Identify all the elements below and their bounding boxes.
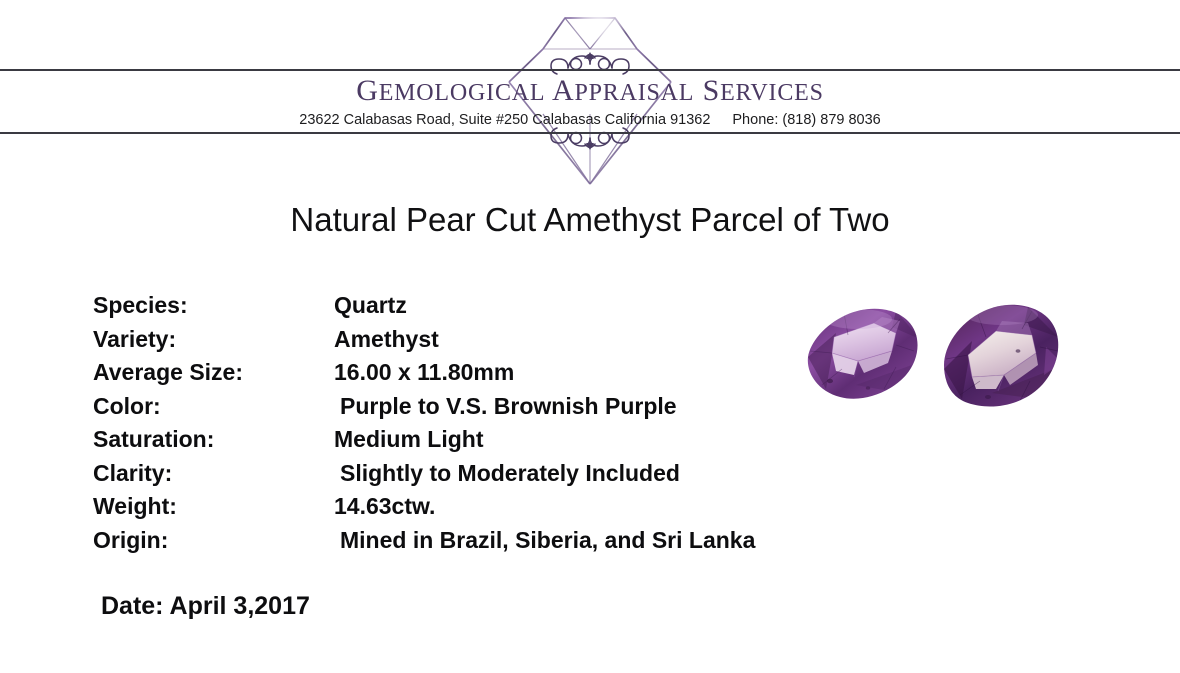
spec-value: Purple to V.S. Brownish Purple: [340, 390, 677, 424]
gemstone-photo: [796, 293, 1072, 423]
company-name-ppraisal: PPRAISAL: [574, 80, 694, 106]
address-and-phone: 23622 Calabasas Road, Suite #250 Calabas…: [0, 111, 1180, 129]
spec-value: Quartz: [334, 289, 407, 323]
spec-label: Variety:: [93, 323, 176, 357]
spec-row: Color:Purple to V.S. Brownish Purple: [93, 390, 813, 424]
spec-label: Color:: [93, 390, 161, 424]
company-name: GEMOLOGICAL APPRAISAL SERVICES: [0, 75, 1180, 109]
header-rule-top: [0, 69, 1180, 71]
spec-row: Variety:Amethyst: [93, 323, 813, 357]
company-name-g: G: [356, 74, 378, 107]
office-phone: Phone: (818) 879 8036: [732, 112, 880, 128]
spec-value: 16.00 x 11.80mm: [334, 356, 514, 390]
spec-row: Clarity:Slightly to Moderately Included: [93, 457, 813, 491]
spec-value: Slightly to Moderately Included: [340, 457, 680, 491]
amethyst-stone-right: [944, 305, 1062, 407]
amethyst-stone-left: [808, 309, 920, 399]
spec-label: Average Size:: [93, 356, 243, 390]
spec-value: 14.63ctw.: [334, 490, 435, 524]
header-rule-bottom: [0, 132, 1180, 134]
spec-value: Mined in Brazil, Siberia, and Sri Lanka: [340, 524, 755, 558]
spec-row: Species:Quartz: [93, 289, 813, 323]
certificate-page: GEMOLOGICAL APPRAISAL SERVICES 23622 Cal…: [0, 0, 1180, 673]
company-name-s: S: [703, 74, 721, 107]
spec-row: Saturation:Medium Light: [93, 423, 813, 457]
office-address: 23622 Calabasas Road, Suite #250 Calabas…: [299, 112, 710, 128]
spec-label: Saturation:: [93, 423, 214, 457]
spec-label: Origin:: [93, 524, 168, 558]
spec-label: Weight:: [93, 490, 177, 524]
specification-list: Species:QuartzVariety:AmethystAverage Si…: [93, 289, 813, 557]
company-name-a: A: [552, 74, 574, 107]
page-title: Natural Pear Cut Amethyst Parcel of Two: [0, 198, 1180, 242]
spec-row: Average Size:16.00 x 11.80mm: [93, 356, 813, 390]
appraisal-date: Date: April 3,2017: [101, 589, 310, 623]
company-name-ervices: ERVICES: [720, 80, 824, 106]
spec-row: Origin:Mined in Brazil, Siberia, and Sri…: [93, 524, 813, 558]
spec-value: Amethyst: [334, 323, 439, 357]
spec-value: Medium Light: [334, 423, 483, 457]
company-name-emological: EMOLOGICAL: [379, 80, 546, 106]
letterhead: GEMOLOGICAL APPRAISAL SERVICES 23622 Cal…: [0, 0, 1180, 195]
spec-label: Species:: [93, 289, 188, 323]
spec-row: Weight:14.63ctw.: [93, 490, 813, 524]
spec-label: Clarity:: [93, 457, 172, 491]
